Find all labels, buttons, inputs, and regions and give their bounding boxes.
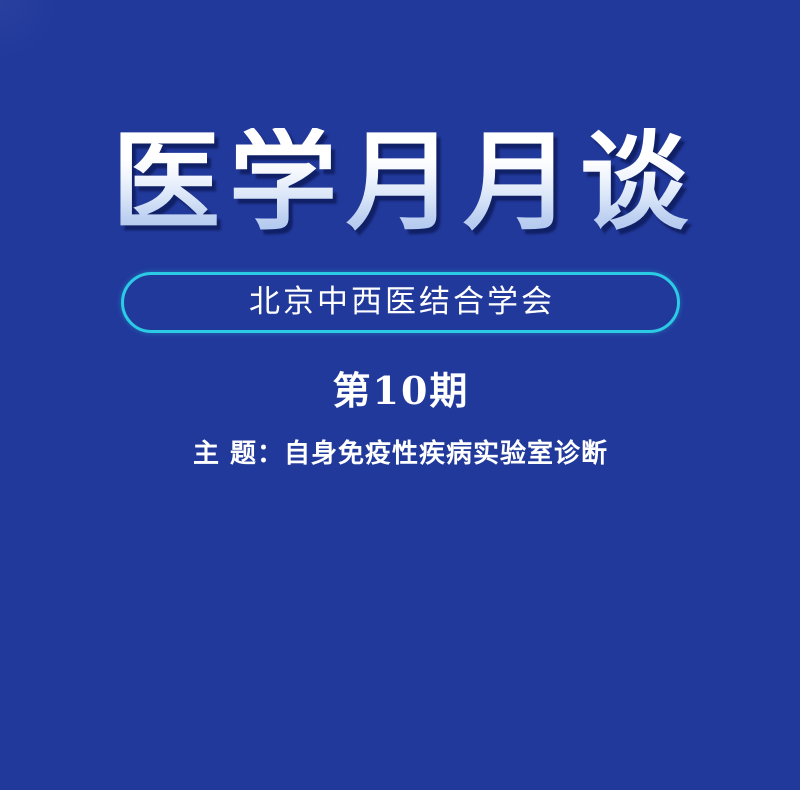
issue-number: 第10期 <box>331 370 470 411</box>
organization-pill: 北京中西医结合学会 <box>121 272 680 333</box>
page-title: 医学月月谈 <box>103 128 697 236</box>
theme-line: 主 题：自身免疫性疾病实验室诊断 <box>192 440 608 470</box>
title-container: 医学月月谈 <box>0 128 800 236</box>
organization-name: 北京中西医结合学会 <box>246 287 555 318</box>
empty-lower-area <box>0 500 800 790</box>
poster-canvas: 医学月月谈 北京中西医结合学会 第10期 主 题：自身免疫性疾病实验室诊断 <box>0 0 800 790</box>
issue-container: 第10期 <box>0 370 800 411</box>
theme-container: 主 题：自身免疫性疾病实验室诊断 <box>0 440 800 470</box>
corner-highlight <box>0 0 60 60</box>
